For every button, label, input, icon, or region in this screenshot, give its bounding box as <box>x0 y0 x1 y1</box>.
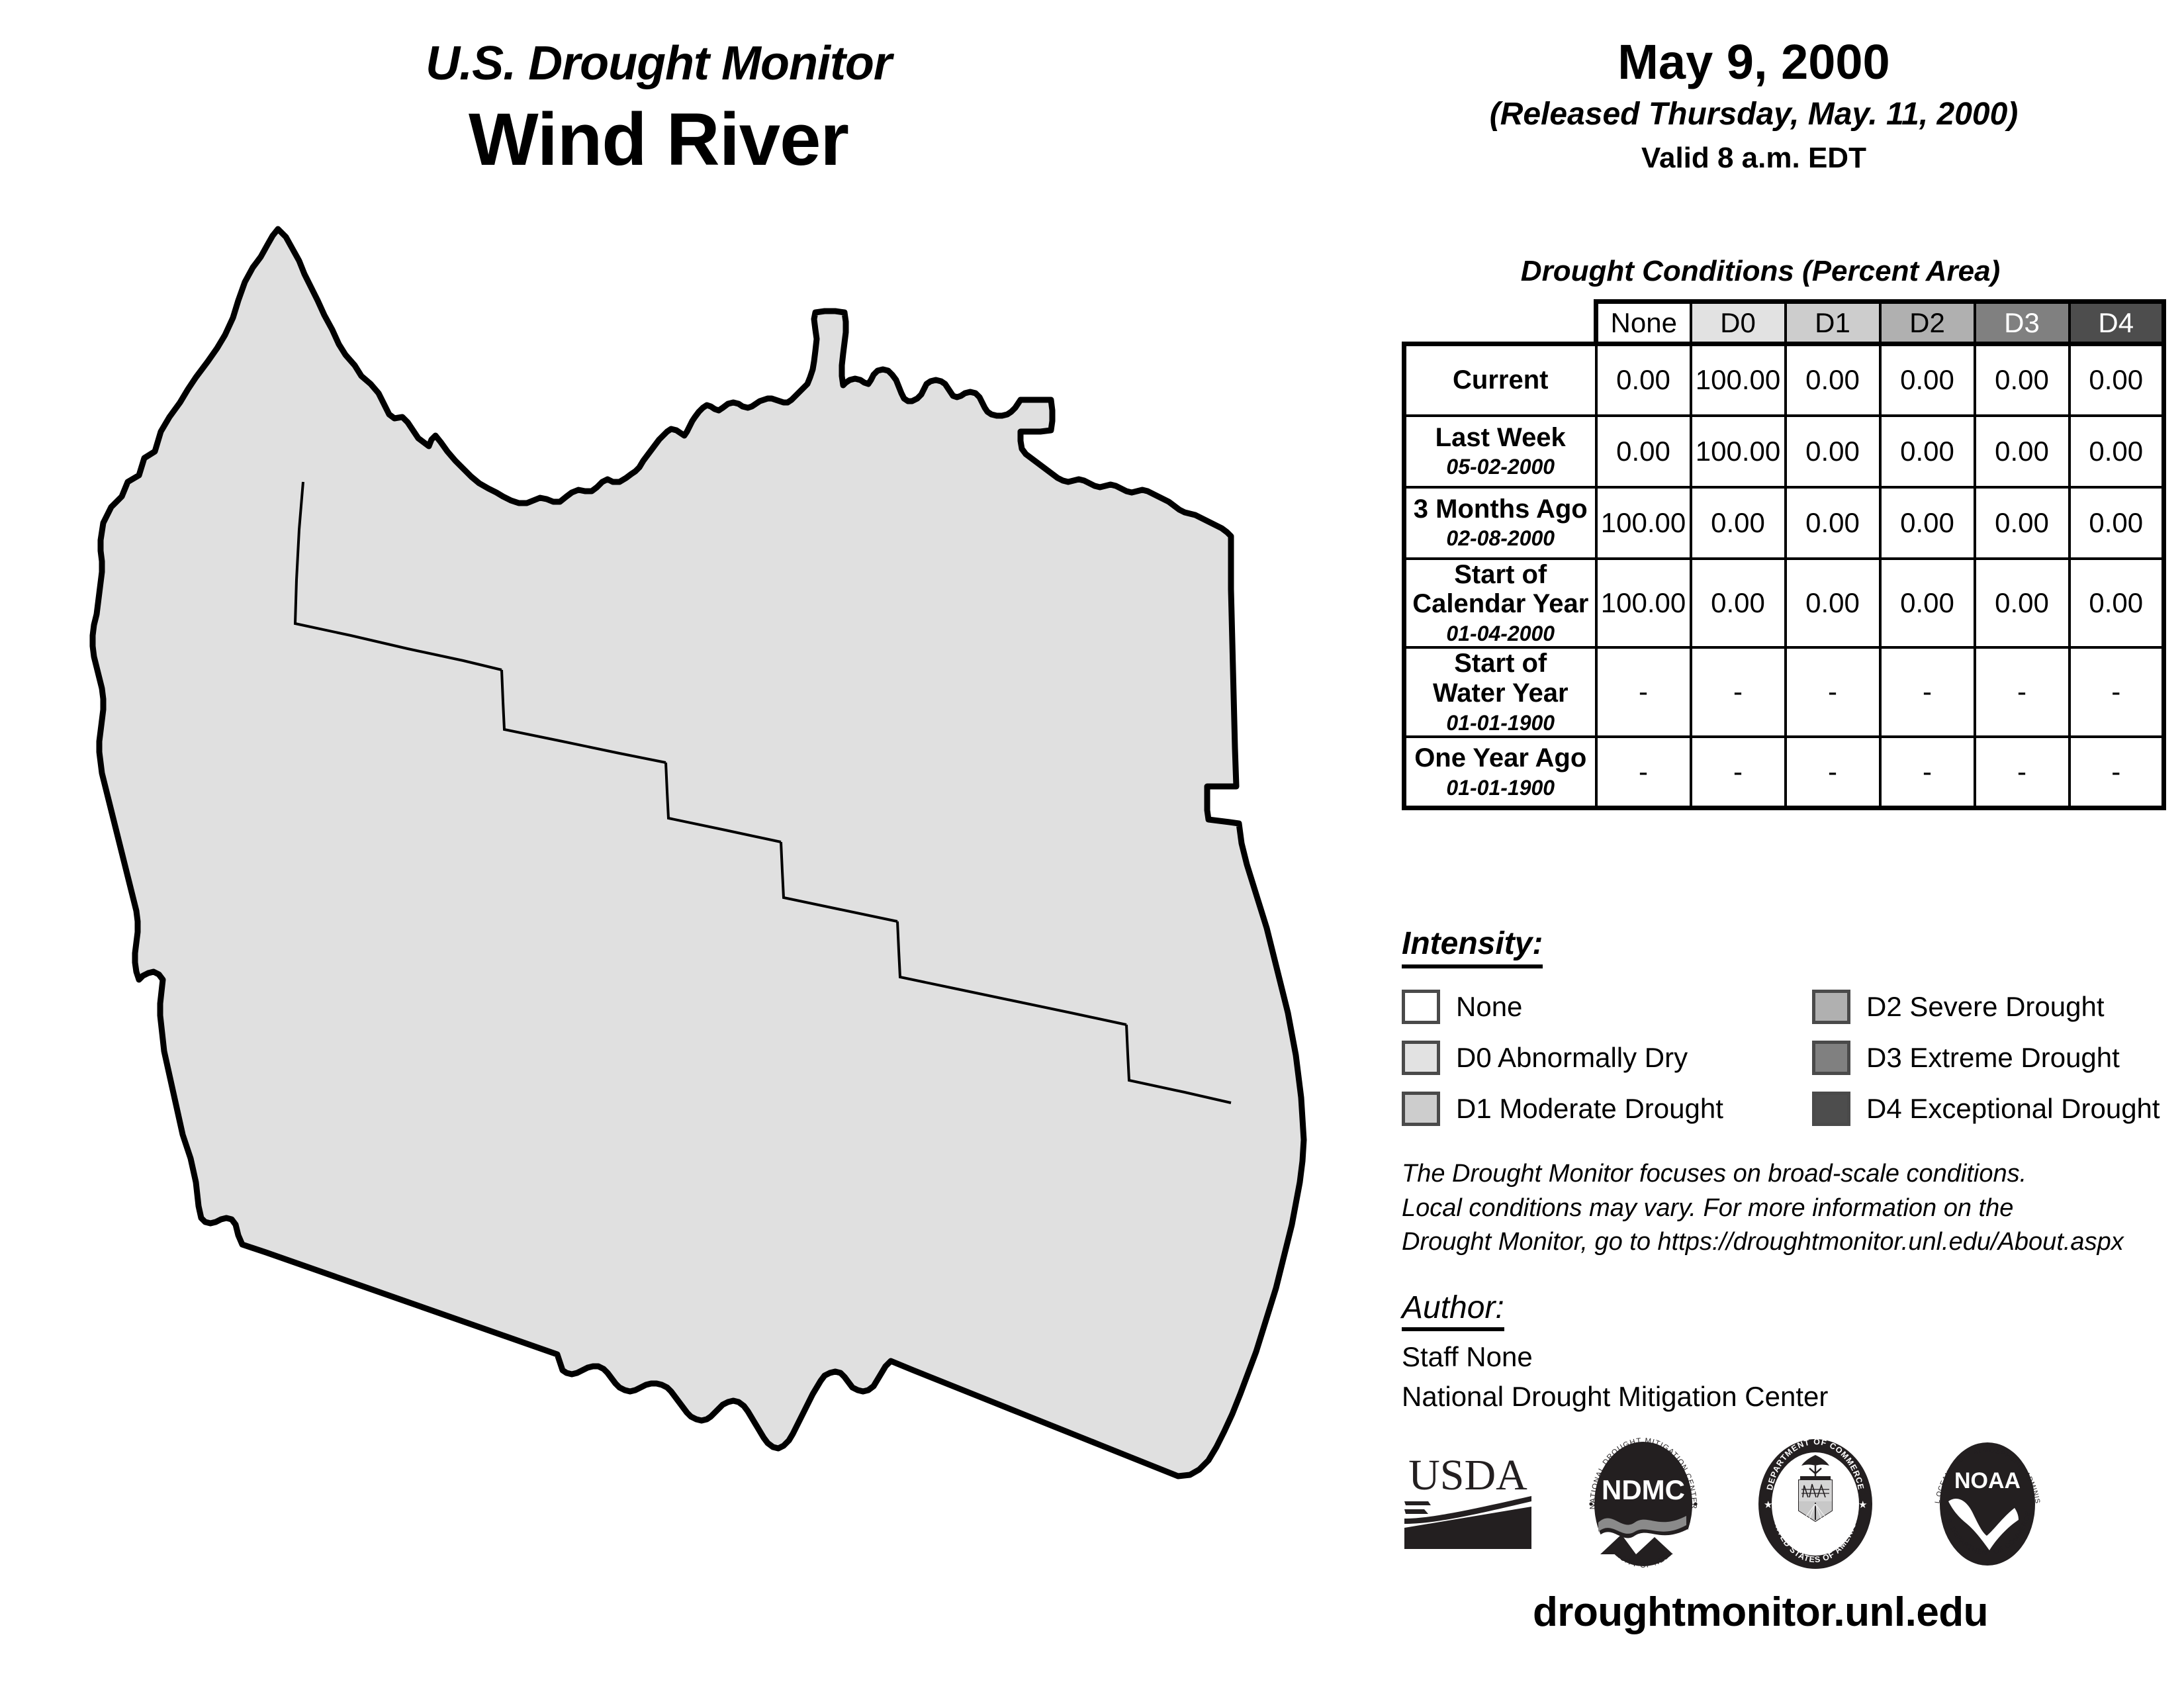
cell-3-months-none: 100.00 <box>1596 487 1691 559</box>
cell-current-d4: 0.00 <box>2070 344 2164 416</box>
cell-start-cal-d1: 0.00 <box>1786 559 1880 648</box>
cell-one-year-d3: - <box>1975 737 2070 808</box>
cell-current-d0: 100.00 <box>1691 344 1786 416</box>
table-caption: Drought Conditions (Percent Area) <box>1370 255 2151 288</box>
swatch-d0-icon <box>1402 1041 1440 1075</box>
title-block: U.S. Drought Monitor Wind River <box>0 40 1317 179</box>
author-block: Staff None National Drought Mitigation C… <box>1402 1337 2169 1416</box>
cell-one-year-d2: - <box>1880 737 1975 808</box>
row-name-line1: Start of <box>1406 560 1595 590</box>
logo-row: USDA NATIONAL DROUGHT MITIGATION CENTER <box>1402 1438 2169 1577</box>
disclaimer-line-2: Local conditions may vary. For more info… <box>1402 1192 2169 1226</box>
table-row: Last Week 05-02-2000 0.00 100.00 0.00 0.… <box>1404 416 2164 487</box>
column-header-d3: D3 <box>1975 302 2070 344</box>
swatch-d3-icon <box>1812 1041 1850 1075</box>
map-panel: U.S. Drought Monitor Wind River <box>0 0 1370 1688</box>
legend-item-none: None <box>1402 990 1812 1024</box>
row-date: 01-04-2000 <box>1406 622 1595 646</box>
usda-logo-text: USDA <box>1408 1451 1527 1499</box>
drought-conditions-table: None D0 D1 D2 D3 D4 Current 0.00 100.00 … <box>1402 299 2166 810</box>
legend-item-d4: D4 Exceptional Drought <box>1812 1092 2163 1126</box>
cell-last-week-d2: 0.00 <box>1880 416 1975 487</box>
legend-item-d1: D1 Moderate Drought <box>1402 1092 1812 1126</box>
cell-start-cal-none: 100.00 <box>1596 559 1691 648</box>
program-title: U.S. Drought Monitor <box>0 40 1317 87</box>
row-name-line1: Start of <box>1406 649 1595 679</box>
intensity-heading: Intensity: <box>1402 925 1543 968</box>
cell-3-months-d3: 0.00 <box>1975 487 2070 559</box>
swatch-none-icon <box>1402 990 1440 1024</box>
column-header-d4: D4 <box>2070 302 2164 344</box>
row-label-current: Current <box>1404 344 1596 416</box>
cell-current-none: 0.00 <box>1596 344 1691 416</box>
row-name: One Year Ago <box>1406 743 1595 773</box>
svg-text:★: ★ <box>1764 1499 1772 1511</box>
noaa-logo-text: NOAA <box>1954 1468 2021 1493</box>
cell-last-week-d1: 0.00 <box>1786 416 1880 487</box>
cell-one-year-d4: - <box>2070 737 2164 808</box>
row-date: 05-02-2000 <box>1406 455 1595 479</box>
area-title: Wind River <box>0 101 1317 179</box>
cell-3-months-d4: 0.00 <box>2070 487 2164 559</box>
table-row: Start of Water Year 01-01-1900 - - - - -… <box>1404 647 2164 737</box>
row-name-line2: Water Year <box>1406 679 1595 708</box>
date-block: May 9, 2000 (Released Thursday, May. 11,… <box>1370 36 2138 175</box>
swatch-d1-icon <box>1402 1092 1440 1126</box>
cell-3-months-d2: 0.00 <box>1880 487 1975 559</box>
legend-label: None <box>1456 991 1522 1023</box>
cell-start-water-none: - <box>1596 647 1691 737</box>
cell-current-d3: 0.00 <box>1975 344 2070 416</box>
column-header-d2: D2 <box>1880 302 1975 344</box>
column-header-d1: D1 <box>1786 302 1880 344</box>
swatch-d2-icon <box>1812 990 1850 1024</box>
cell-start-cal-d3: 0.00 <box>1975 559 2070 648</box>
row-name: Last Week <box>1406 423 1595 453</box>
cell-3-months-d0: 0.00 <box>1691 487 1786 559</box>
cell-3-months-d1: 0.00 <box>1786 487 1880 559</box>
cell-start-cal-d0: 0.00 <box>1691 559 1786 648</box>
cell-start-water-d3: - <box>1975 647 2070 737</box>
row-label-last-week: Last Week 05-02-2000 <box>1404 416 1596 487</box>
cell-current-d2: 0.00 <box>1880 344 1975 416</box>
cell-start-water-d0: - <box>1691 647 1786 737</box>
cell-start-water-d1: - <box>1786 647 1880 737</box>
cell-last-week-none: 0.00 <box>1596 416 1691 487</box>
footer-url[interactable]: droughtmonitor.unl.edu <box>1370 1589 2151 1636</box>
row-date: 01-01-1900 <box>1406 776 1595 800</box>
cell-one-year-d1: - <box>1786 737 1880 808</box>
doc-logo: DEPARTMENT OF COMMERCE UNITED STATES OF … <box>1752 1438 1878 1573</box>
legend-item-d0: D0 Abnormally Dry <box>1402 1041 1812 1075</box>
header-corner-blank <box>1404 302 1596 344</box>
cell-start-cal-d2: 0.00 <box>1880 559 1975 648</box>
table-row: 3 Months Ago 02-08-2000 100.00 0.00 0.00… <box>1404 487 2164 559</box>
cell-current-d1: 0.00 <box>1786 344 1880 416</box>
disclaimer-line-1: The Drought Monitor focuses on broad-sca… <box>1402 1157 2169 1192</box>
author-name: Staff None <box>1402 1337 2169 1377</box>
author-heading: Author: <box>1402 1289 1504 1331</box>
row-label-start-calendar-year: Start of Calendar Year 01-04-2000 <box>1404 559 1596 648</box>
disclaimer-line-3: Drought Monitor, go to https://droughtmo… <box>1402 1225 2169 1260</box>
intensity-legend: None D2 Severe Drought D0 Abnormally Dry… <box>1402 981 2163 1134</box>
disclaimer-text: The Drought Monitor focuses on broad-sca… <box>1402 1157 2169 1260</box>
legend-item-d2: D2 Severe Drought <box>1812 990 2163 1024</box>
valid-time: Valid 8 a.m. EDT <box>1370 142 2138 174</box>
cell-start-cal-d4: 0.00 <box>2070 559 2164 648</box>
column-header-d0: D0 <box>1691 302 1786 344</box>
legend-label: D1 Moderate Drought <box>1456 1093 1723 1125</box>
ndmc-logo-text: NDMC <box>1602 1474 1685 1505</box>
legend-label: D4 Exceptional Drought <box>1866 1093 2160 1125</box>
cell-one-year-none: - <box>1596 737 1691 808</box>
legend-label: D3 Extreme Drought <box>1866 1042 2120 1074</box>
row-name-line2: Calendar Year <box>1406 589 1595 619</box>
wind-river-map[interactable] <box>40 218 1337 1622</box>
swatch-d4-icon <box>1812 1092 1850 1126</box>
legend-label: D0 Abnormally Dry <box>1456 1042 1688 1074</box>
table-row: One Year Ago 01-01-1900 - - - - - - <box>1404 737 2164 808</box>
legend-label: D2 Severe Drought <box>1866 991 2105 1023</box>
release-date: (Released Thursday, May. 11, 2000) <box>1370 97 2138 132</box>
usda-logo: USDA <box>1402 1438 1534 1560</box>
issue-date: May 9, 2000 <box>1370 36 2138 88</box>
legend-item-d3: D3 Extreme Drought <box>1812 1041 2163 1075</box>
row-date: 01-01-1900 <box>1406 711 1595 735</box>
noaa-logo: NATIONAL OCEANIC AND ATMOSPHERIC ADMINIS… <box>1925 1438 2050 1573</box>
row-name: 3 Months Ago <box>1406 494 1595 524</box>
table-row: Current 0.00 100.00 0.00 0.00 0.00 0.00 <box>1404 344 2164 416</box>
info-panel: May 9, 2000 (Released Thursday, May. 11,… <box>1370 0 2184 1688</box>
svg-text:★: ★ <box>1858 1499 1867 1511</box>
reservation-area-d0 <box>93 229 1304 1476</box>
cell-one-year-d0: - <box>1691 737 1786 808</box>
ndmc-logo: NATIONAL DROUGHT MITIGATION CENTER UNIVE… <box>1580 1438 1706 1573</box>
cell-last-week-d4: 0.00 <box>2070 416 2164 487</box>
column-header-none: None <box>1596 302 1691 344</box>
cell-start-water-d2: - <box>1880 647 1975 737</box>
table-header-row: None D0 D1 D2 D3 D4 <box>1404 302 2164 344</box>
author-organization: National Drought Mitigation Center <box>1402 1377 2169 1417</box>
row-name: Current <box>1406 365 1595 395</box>
cell-start-water-d4: - <box>2070 647 2164 737</box>
row-label-3-months-ago: 3 Months Ago 02-08-2000 <box>1404 487 1596 559</box>
cell-last-week-d0: 100.00 <box>1691 416 1786 487</box>
cell-last-week-d3: 0.00 <box>1975 416 2070 487</box>
table-row: Start of Calendar Year 01-04-2000 100.00… <box>1404 559 2164 648</box>
row-date: 02-08-2000 <box>1406 526 1595 551</box>
row-label-one-year-ago: One Year Ago 01-01-1900 <box>1404 737 1596 808</box>
row-label-start-water-year: Start of Water Year 01-01-1900 <box>1404 647 1596 737</box>
